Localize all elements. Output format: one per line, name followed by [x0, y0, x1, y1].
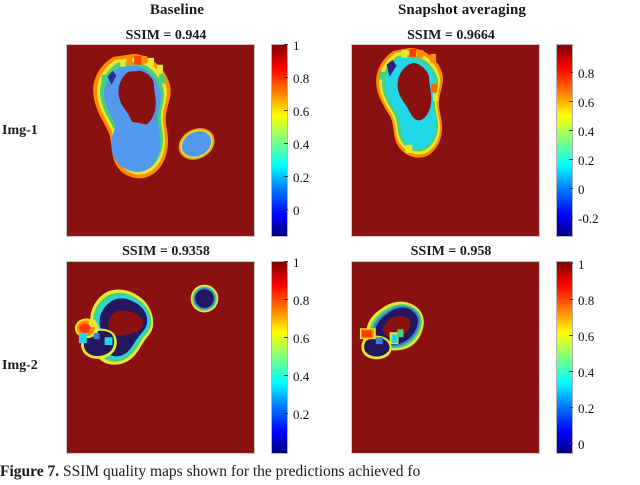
colorbar-tickmark [284, 337, 288, 338]
colorbar-tickmark [569, 335, 573, 336]
colorbar-ticks-img1-snapshot: 0.8 0.6 0.4 0.2 0 -0.2 [556, 44, 573, 237]
heatmap-panel-img2-snapshot [351, 261, 540, 454]
colorbar-tick-label: 0.8 [578, 67, 594, 80]
heatmap-canvas-img1-snapshot [352, 45, 539, 236]
colorbar-tick-label: 1 [293, 256, 300, 269]
heatmap-panel-img1-snapshot [351, 44, 540, 237]
heatmap-panel-img1-baseline [66, 44, 255, 237]
column-header-snapshot-averaging: Snapshot averaging [351, 2, 573, 19]
colorbar-tickmark [569, 407, 573, 408]
colorbar-tick-label: 0.8 [578, 294, 594, 307]
colorbar-tick-label: 0.2 [293, 408, 309, 421]
row-label-img-1: Img-1 [2, 123, 38, 139]
figure-caption-text: SSIM quality maps shown for the predicti… [59, 463, 420, 480]
colorbar-tickmark [569, 188, 573, 189]
colorbar-tick-label: 0.8 [293, 72, 309, 85]
colorbar-tick-label: 0.2 [578, 154, 594, 167]
colorbar-tickmark [284, 110, 288, 111]
colorbar-tickmark [569, 263, 573, 264]
colorbar-tickmark [284, 375, 288, 376]
colorbar-tick-label: 0.6 [578, 96, 594, 109]
figure-caption: Figure 7. SSIM quality maps shown for th… [0, 462, 640, 482]
colorbar-ticks-img1-baseline: 1 0.8 0.6 0.4 0.2 0 [271, 44, 288, 237]
colorbar-ticks-img2-snapshot: 1 0.8 0.6 0.4 0.2 0 [556, 261, 573, 454]
colorbar-tick-label: 0.6 [578, 330, 594, 343]
heatmap-panel-img2-baseline [66, 261, 255, 454]
colorbar-tickmark [569, 299, 573, 300]
colorbar-tickmark [284, 209, 288, 210]
colorbar-tickmark [284, 413, 288, 414]
panel-title-img2-baseline: SSIM = 0.9358 [71, 244, 261, 260]
panel-title-img1-baseline: SSIM = 0.944 [71, 28, 261, 44]
colorbar-tickmark [569, 217, 573, 218]
feature-small-upper-right-blob [191, 285, 219, 313]
row-label-img-2: Img-2 [2, 358, 38, 374]
colorbar-tick-label: 0.2 [293, 171, 309, 184]
colorbar-tickmark [569, 130, 573, 131]
colorbar-tick-label: 0.4 [578, 366, 594, 379]
feature-left-edge-hotspot [360, 328, 376, 339]
colorbar-tick-label: 1 [578, 258, 585, 271]
colorbar-tick-label: -0.2 [578, 212, 599, 225]
colorbar-tickmark [569, 159, 573, 160]
colorbar-tick-label: 0.4 [293, 138, 309, 151]
column-header-baseline: Baseline [66, 2, 288, 19]
colorbar-tick-label: 1 [293, 39, 300, 52]
colorbar-tick-label: 0.8 [293, 294, 309, 307]
colorbar-tick-label: 0.6 [293, 105, 309, 118]
colorbar-tickmark [284, 44, 288, 45]
colorbar-tick-label: 0 [578, 183, 585, 196]
heatmap-canvas-img2-snapshot [352, 262, 539, 453]
colorbar-tickmark [569, 371, 573, 372]
colorbar-tickmark [569, 101, 573, 102]
colorbar-tickmark [284, 143, 288, 144]
colorbar-tick-label: 0 [578, 438, 585, 451]
colorbar-tickmark [284, 261, 288, 262]
figure-root: Baseline Snapshot averaging Img-1 Img-2 … [0, 0, 640, 485]
colorbar-tickmark [284, 176, 288, 177]
colorbar-tick-label: 0.4 [578, 125, 594, 138]
colorbar-tickmark [284, 299, 288, 300]
figure-caption-label: Figure 7. [0, 463, 59, 480]
colorbar-tickmark [284, 77, 288, 78]
colorbar-tickmark [569, 443, 573, 444]
colorbar-tick-label: 0 [293, 204, 300, 217]
colorbar-tick-label: 0.2 [578, 402, 594, 415]
colorbar-tickmark [569, 72, 573, 73]
colorbar-ticks-img2-baseline: 1 0.8 0.6 0.4 0.2 [271, 261, 288, 454]
panel-title-img1-snapshot: SSIM = 0.9664 [356, 28, 546, 44]
heatmap-canvas-img1-baseline [67, 45, 254, 236]
colorbar-tick-label: 0.6 [293, 332, 309, 345]
heatmap-canvas-img2-baseline [67, 262, 254, 453]
panel-title-img2-snapshot: SSIM = 0.958 [356, 244, 546, 260]
colorbar-tick-label: 0.4 [293, 370, 309, 383]
